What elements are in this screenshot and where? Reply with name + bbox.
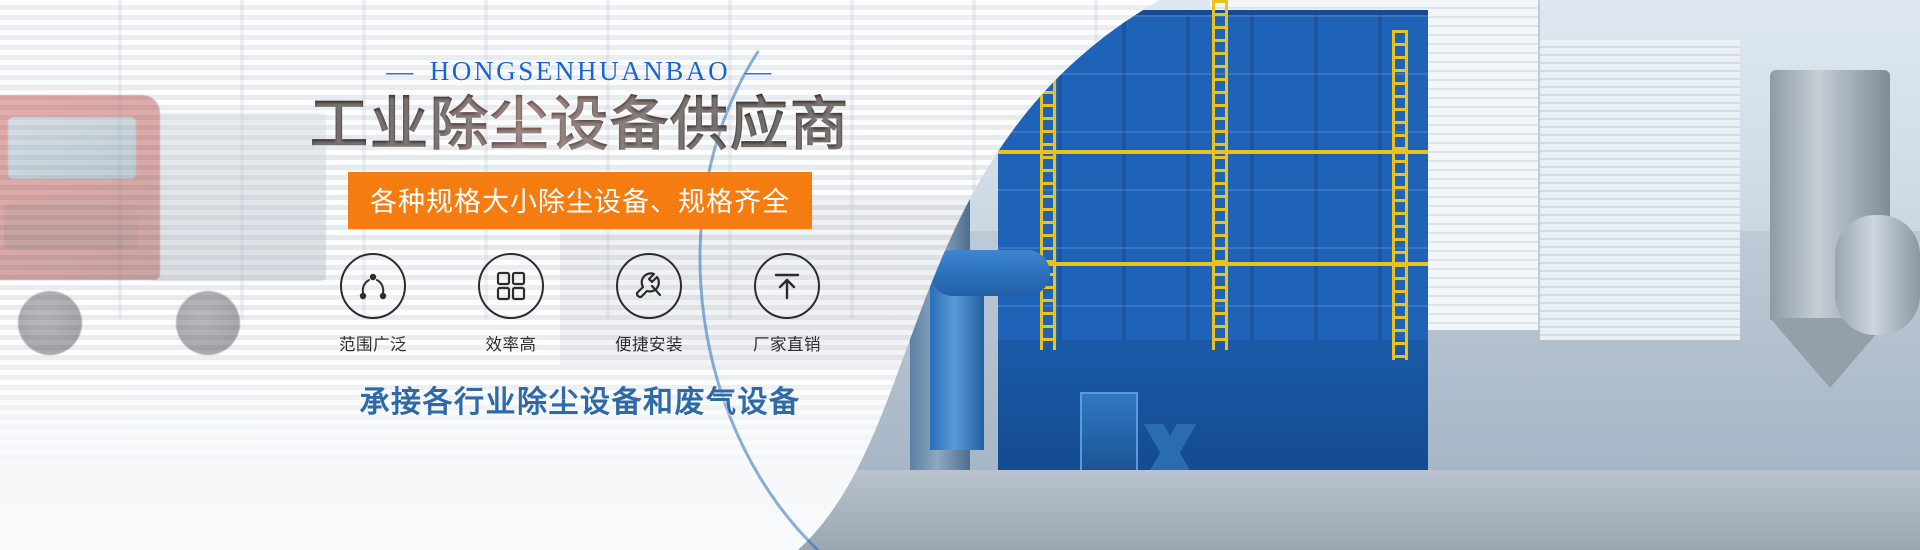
dash-left-icon: — [386, 58, 416, 85]
arrow-up-bar-icon [771, 270, 803, 302]
feature-label: 便捷安装 [601, 331, 697, 355]
feature-item-factory-direct[interactable]: 厂家直销 [739, 253, 835, 355]
feature-label: 厂家直销 [739, 331, 835, 355]
yellow-handrail [998, 150, 1428, 154]
subtitle-orange-bar: 各种规格大小除尘设备、规格齐全 [348, 172, 812, 229]
page-title: 工业除尘设备供应商 [300, 93, 860, 158]
truck-windshield [8, 117, 136, 179]
feature-icon-circle [754, 253, 820, 319]
red-truck-image [0, 95, 320, 385]
feature-item-easy-install[interactable]: 便捷安装 [601, 253, 697, 355]
dash-right-icon: — [744, 58, 774, 85]
feature-list: 范围广泛 效率高 [300, 253, 860, 355]
feature-label: 效率高 [463, 331, 559, 355]
feature-icon-circle [478, 253, 544, 319]
grid-squares-icon [495, 270, 527, 302]
feature-item-high-efficiency[interactable]: 效率高 [463, 253, 559, 355]
wrench-icon [632, 269, 666, 303]
feature-icon-circle [616, 253, 682, 319]
yellow-ladder [1392, 30, 1408, 360]
tagline: 承接各行业除尘设备和废气设备 [300, 377, 860, 421]
truck-wheel-front [18, 291, 82, 355]
feature-icon-circle [340, 253, 406, 319]
truck-grille [4, 203, 138, 249]
brand-eyebrow: — HONGSENHUANBAO — [300, 56, 860, 87]
network-nodes-icon [356, 269, 390, 303]
blue-duct-elbow [930, 250, 1050, 296]
large-duct [1835, 215, 1920, 335]
yellow-ladder [1212, 0, 1228, 350]
truck-cab [0, 95, 160, 280]
brand-eyebrow-text: HONGSENHUANBAO [430, 56, 730, 87]
hero-content: — HONGSENHUANBAO — 工业除尘设备供应商 各种规格大小除尘设备、… [300, 56, 860, 421]
white-factory-building-secondary [1540, 40, 1740, 340]
hero-banner: — HONGSENHUANBAO — 工业除尘设备供应商 各种规格大小除尘设备、… [0, 0, 1920, 550]
truck-wheel-rear [176, 291, 240, 355]
feature-item-wide-range[interactable]: 范围广泛 [325, 253, 421, 355]
yellow-handrail [998, 262, 1428, 266]
feature-label: 范围广泛 [325, 331, 421, 355]
concrete-ground [780, 470, 1920, 550]
